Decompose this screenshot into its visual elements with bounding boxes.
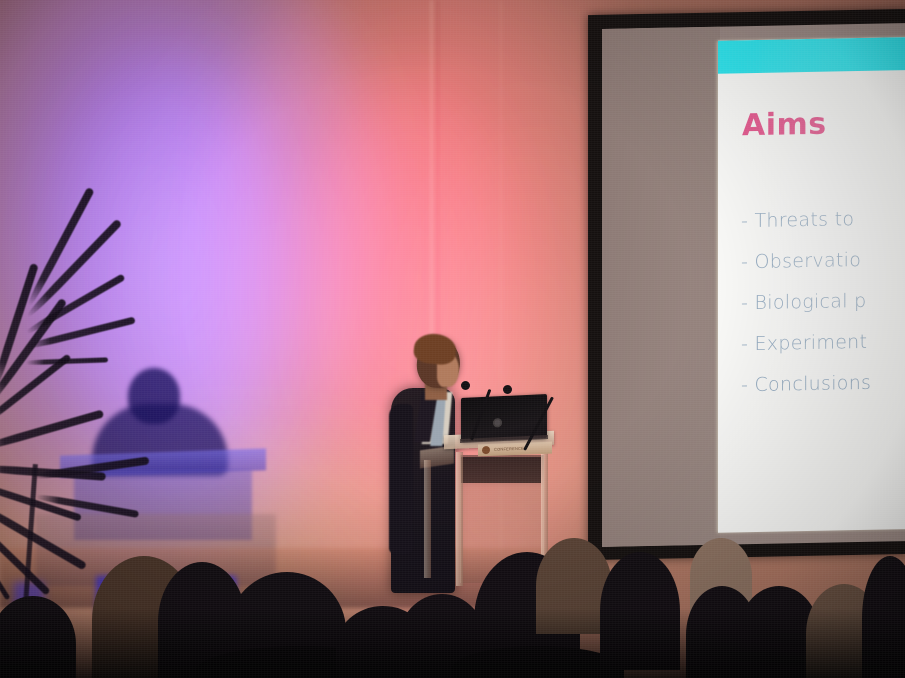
lectern-post <box>424 460 431 578</box>
palm-frond <box>0 528 10 600</box>
projection-screen: Aims - Threats to - Observatio - Biologi… <box>588 12 905 557</box>
palm-frond <box>0 298 67 409</box>
slide-bullet-item: - Experiment <box>741 328 905 355</box>
slide-bullet-item: - Conclusions <box>741 369 905 396</box>
palm-plant-silhouette <box>0 268 180 598</box>
microphone-capsule <box>461 381 470 390</box>
presentation-photo-scene: Aims - Threats to - Observatio - Biologi… <box>0 0 905 678</box>
microphone-capsule <box>503 385 512 394</box>
screen-surface: Aims - Threats to - Observatio - Biologi… <box>602 23 905 547</box>
palm-frond <box>0 409 104 453</box>
lectern-post <box>456 452 463 586</box>
slide-bullet-item: - Observatio <box>741 246 905 273</box>
slide-bullet-item: - Threats to <box>741 205 905 232</box>
lectern-shelf <box>461 457 541 483</box>
lectern-logo-icon <box>482 446 490 454</box>
lectern-plaque-text: CONFERENCE <box>494 446 524 452</box>
foreground-shadow <box>0 608 905 678</box>
projected-slide: Aims - Threats to - Observatio - Biologi… <box>718 37 905 533</box>
speaker-arm <box>389 404 413 554</box>
slide-bullet-list: - Threats to - Observatio - Biological p… <box>741 205 905 415</box>
slide-top-banner <box>718 37 905 74</box>
screen-unlit-area <box>602 27 720 547</box>
slide-title: Aims <box>742 107 827 144</box>
slide-bullet-item: - Biological p <box>741 287 905 314</box>
laptop-logo-icon <box>493 418 502 427</box>
